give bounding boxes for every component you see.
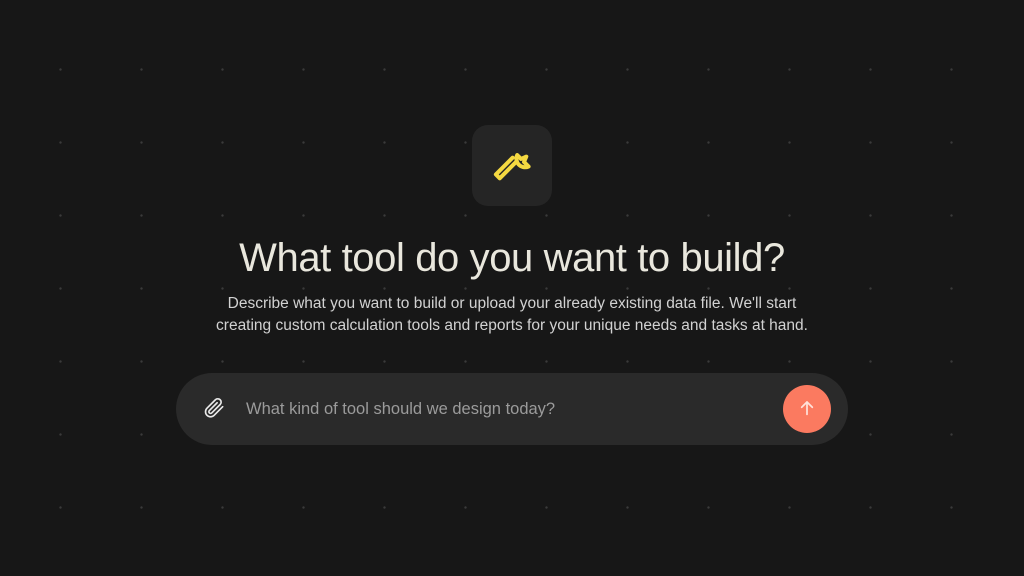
attach-file-button[interactable] (202, 396, 228, 422)
page-title: What tool do you want to build? (0, 234, 1024, 282)
landing-page: What tool do you want to build? Describe… (0, 0, 1024, 576)
paperclip-icon (204, 397, 226, 422)
hero-icon-badge (472, 125, 552, 206)
prompt-bar[interactable] (176, 373, 848, 445)
page-subtitle-line-1: Describe what you want to build or uploa… (0, 293, 1024, 315)
page-subtitle-line-2: creating custom calculation tools and re… (0, 315, 1024, 337)
arrow-up-icon (796, 397, 818, 422)
page-subtitle: Describe what you want to build or uploa… (0, 293, 1024, 336)
wrench-icon (489, 143, 535, 189)
submit-button[interactable] (783, 385, 831, 433)
prompt-input[interactable] (246, 373, 783, 445)
